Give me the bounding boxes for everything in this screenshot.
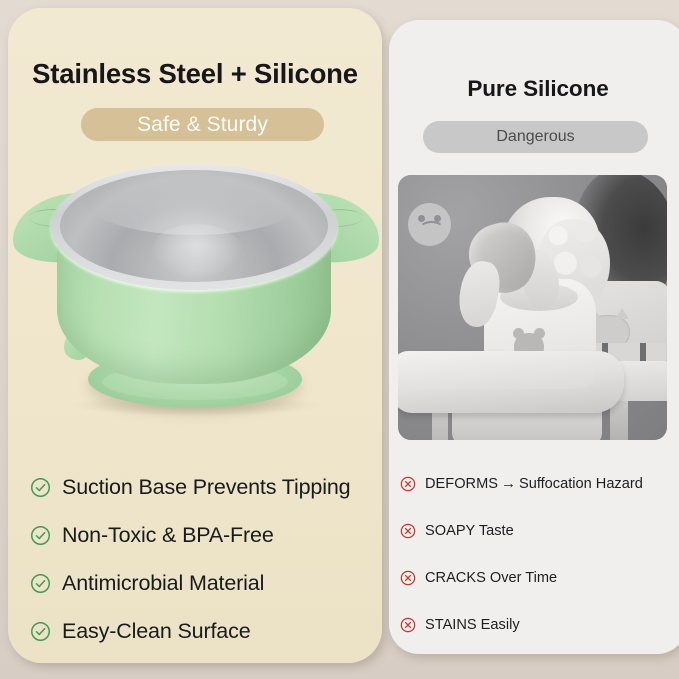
bad-panel-badge: Dangerous bbox=[423, 121, 648, 153]
x-circle-icon bbox=[400, 617, 416, 633]
feature-label: Antimicrobial Material bbox=[62, 571, 264, 596]
list-item: Suction Base Prevents Tipping bbox=[30, 463, 368, 511]
x-circle-icon bbox=[400, 523, 416, 539]
x-circle-icon bbox=[400, 476, 416, 492]
feature-label: Suction Base Prevents Tipping bbox=[62, 475, 350, 500]
bad-panel-title: Pure Silicone bbox=[389, 76, 679, 102]
bad-product-panel: Pure Silicone Dangerous bbox=[389, 20, 679, 654]
warning-label-suffix: Suffocation Hazard bbox=[519, 476, 643, 492]
high-chair-tray bbox=[398, 351, 624, 413]
list-item: Easy-Clean Surface bbox=[30, 607, 368, 655]
check-circle-icon bbox=[30, 573, 51, 594]
hazard-photo bbox=[398, 175, 667, 440]
sad-face-eye-left bbox=[418, 215, 425, 222]
warning-label: STAINS Easily bbox=[425, 617, 520, 633]
warning-label: DEFORMS→Suffocation Hazard bbox=[425, 475, 643, 492]
bad-warning-list: DEFORMS→Suffocation Hazard SOAPY Taste C… bbox=[400, 460, 679, 648]
x-circle-icon bbox=[400, 570, 416, 586]
good-product-image bbox=[8, 158, 382, 448]
good-panel-title: Stainless Steel + Silicone bbox=[8, 58, 382, 90]
list-item: Antimicrobial Material bbox=[30, 559, 368, 607]
list-item: Non-Toxic & BPA-Free bbox=[30, 511, 368, 559]
feature-label: Non-Toxic & BPA-Free bbox=[62, 523, 274, 548]
sad-face-icon bbox=[408, 203, 451, 246]
sad-face-mouth bbox=[419, 221, 444, 237]
warning-label: SOAPY Taste bbox=[425, 523, 514, 539]
feature-label: Easy-Clean Surface bbox=[62, 619, 251, 644]
silicone-steel-bowl bbox=[8, 158, 382, 448]
warning-label-main: DEFORMS bbox=[425, 476, 498, 492]
warning-label: CRACKS Over Time bbox=[425, 570, 557, 586]
good-panel-badge: Safe & Sturdy bbox=[81, 108, 324, 141]
check-circle-icon bbox=[30, 477, 51, 498]
list-item: STAINS Easily bbox=[400, 601, 679, 648]
list-item: CRACKS Over Time bbox=[400, 554, 679, 601]
list-item: SOAPY Taste bbox=[400, 507, 679, 554]
check-circle-icon bbox=[30, 525, 51, 546]
arrow-right-icon: → bbox=[498, 475, 519, 492]
good-product-panel: Stainless Steel + Silicone Safe & Sturdy… bbox=[8, 8, 382, 663]
check-circle-icon bbox=[30, 621, 51, 642]
bowl-steel-interior bbox=[60, 170, 328, 282]
good-feature-list: Suction Base Prevents Tipping Non-Toxic … bbox=[30, 463, 368, 655]
list-item: DEFORMS→Suffocation Hazard bbox=[400, 460, 679, 507]
